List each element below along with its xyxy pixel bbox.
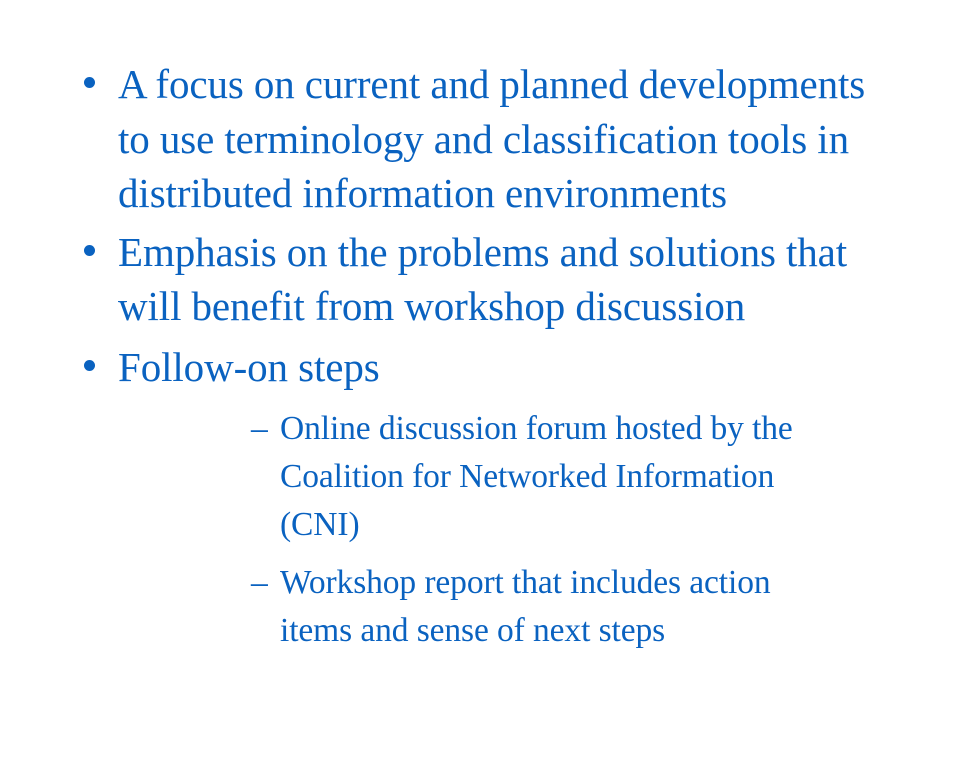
sub-bullet-list: – Online discussion forum hosted by the … — [118, 405, 898, 655]
bullet-item-3-text: Follow-on steps — [118, 344, 380, 390]
sub-bullet-item-1-text: Online discussion forum hosted by the Co… — [280, 410, 793, 543]
bullet-item-1: A focus on current and planned developme… — [0, 57, 960, 221]
bullet-item-3: Follow-on steps – Online discussion foru… — [0, 340, 960, 656]
bullet-item-2-text: Emphasis on the problems and solutions t… — [118, 229, 847, 330]
bullet-dot-icon — [84, 340, 96, 395]
slide-canvas: A focus on current and planned developme… — [0, 0, 960, 768]
sub-bullet-item-2-text: Workshop report that includes action ite… — [280, 564, 771, 649]
bullet-item-1-text: A focus on current and planned developme… — [118, 61, 865, 216]
slide-body-bullet-list: A focus on current and planned developme… — [0, 0, 960, 655]
en-dash-bullet-icon: – — [251, 559, 271, 607]
en-dash-bullet-icon: – — [251, 405, 271, 453]
bullet-item-2: Emphasis on the problems and solutions t… — [0, 225, 960, 334]
sub-bullet-item-1: – Online discussion forum hosted by the … — [118, 405, 898, 549]
bullet-dot-icon — [84, 57, 96, 112]
bullet-dot-icon — [84, 225, 96, 280]
sub-bullet-item-2: – Workshop report that includes action i… — [118, 559, 898, 655]
